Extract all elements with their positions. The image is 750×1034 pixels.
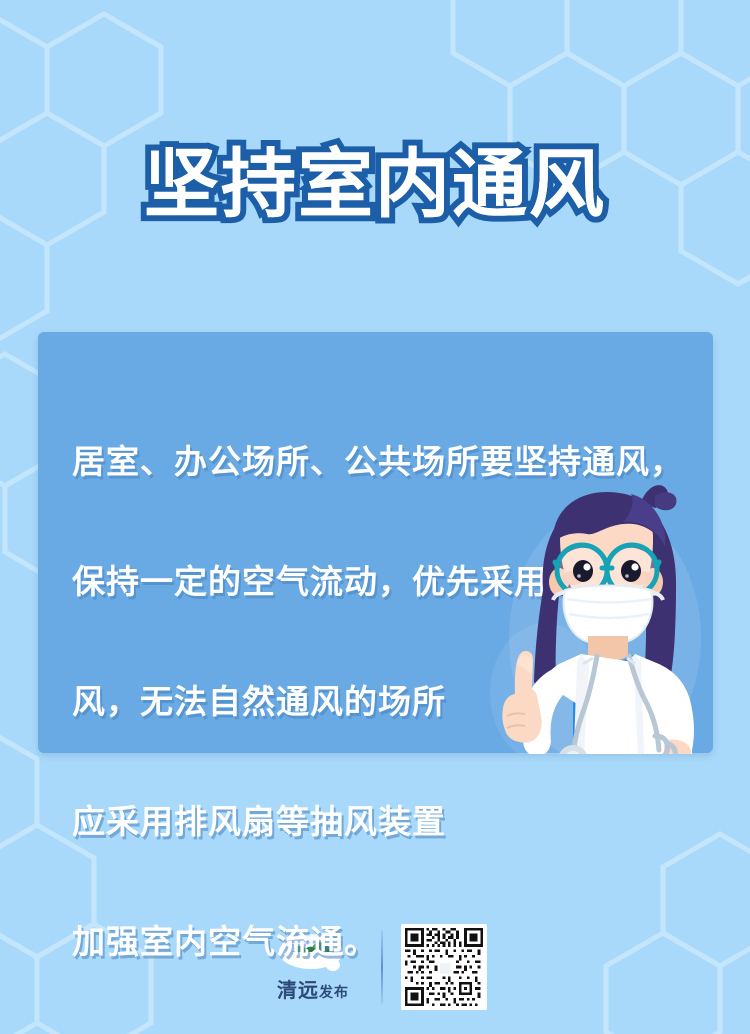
advice-line-4: 应采用排风扇等抽风装置	[72, 792, 712, 852]
advice-line-5: 加强室内空气流通。	[72, 912, 712, 972]
page-title: 坚持室内通风	[0, 140, 750, 229]
doctor-illustration	[455, 478, 720, 768]
poster-root: 坚持室内通风 坚持室内通风 居室、办公场所、公共场所要坚持通风， 保持一定的空气…	[0, 0, 750, 1034]
page-title-text: 坚持室内通风	[144, 140, 606, 229]
